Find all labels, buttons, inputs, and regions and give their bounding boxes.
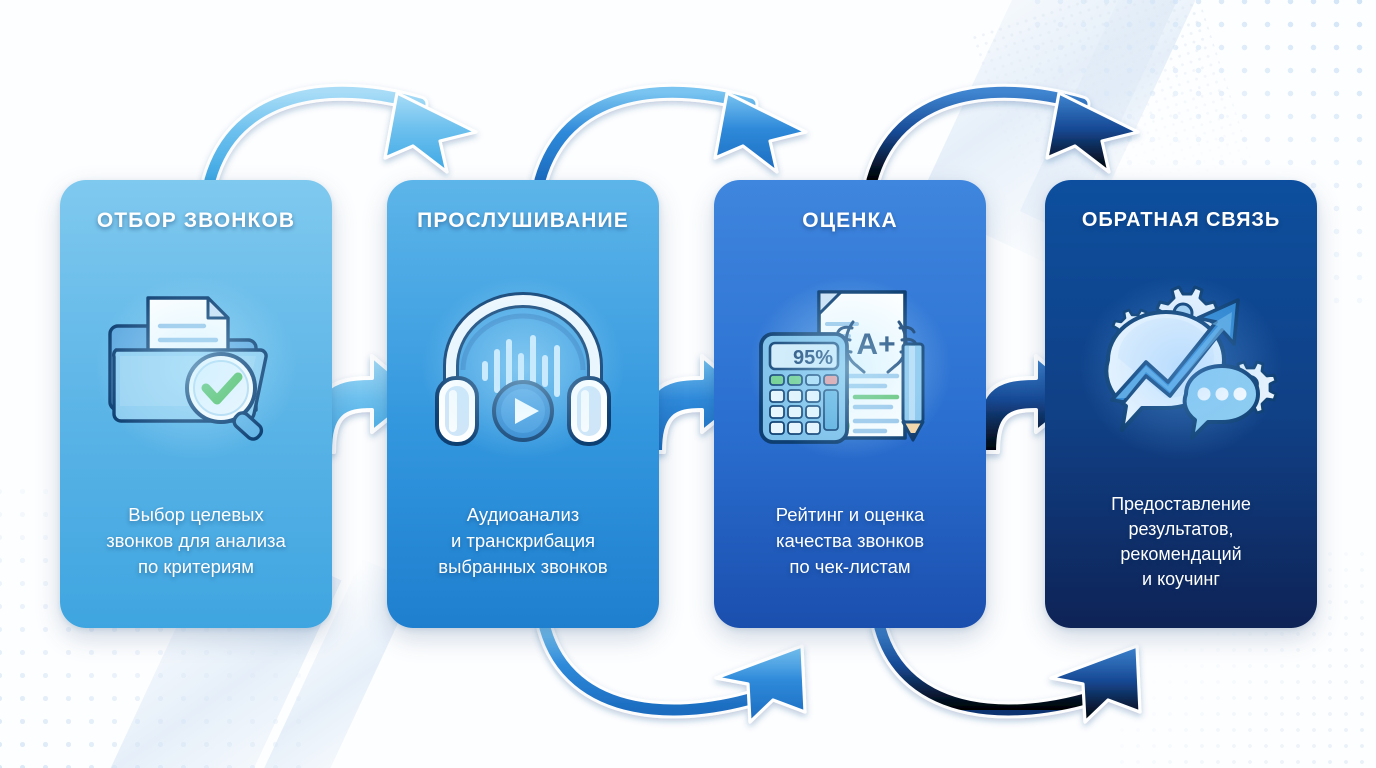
desc-line: рекомендаций [1059,542,1303,567]
desc-line: Предоставление [1059,492,1303,517]
step-card-2[interactable]: ПРОСЛУШИВАНИЕ [387,180,659,628]
step-card-4[interactable]: ОБРАТНАЯ СВЯЗЬ [1045,180,1317,628]
step-2-title: ПРОСЛУШИВАНИЕ [387,209,659,233]
bottom-arc-2 [880,628,1140,722]
headphones-waveform-play-icon [423,278,623,458]
desc-line: по критериям [74,554,318,580]
grade-label: A+ [856,328,895,361]
desc-line: звонков для анализа [74,528,318,554]
step-3-description: Рейтинг и оценка качества звонков по чек… [728,502,972,580]
desc-line: Выбор целевых [74,502,318,528]
calculator-report-grade-icon: A+ [745,278,955,458]
step-2-description: Аудиоанализ и транскрибация выбранных зв… [401,502,645,580]
step-3-title: ОЦЕНКА [714,209,986,233]
step-1-description: Выбор целевых звонков для анализа по кри… [74,502,318,580]
top-arc-2 [540,92,806,180]
desc-line: выбранных звонков [401,554,645,580]
step-card-1[interactable]: ОТБОР ЗВОНКОВ [60,180,332,628]
desc-line: и коучинг [1059,567,1303,592]
step-1-title: ОТБОР ЗВОНКОВ [60,209,332,233]
step-4-title: ОБРАТНАЯ СВЯЗЬ [1045,209,1317,232]
step-card-3[interactable]: ОЦЕНКА [714,180,986,628]
folder-document-magnifier-check-icon [96,278,296,458]
step-1-icon [60,268,332,468]
speech-bubble-growth-arrow-gears-icon [1076,278,1286,458]
step-4-description: Предоставление результатов, рекомендаций… [1059,492,1303,592]
desc-line: по чек-листам [728,554,972,580]
desc-line: качества звонков [728,528,972,554]
diagram-canvas: ОТБОР ЗВОНКОВ [0,0,1376,768]
desc-line: результатов, [1059,517,1303,542]
step-4-icon [1045,268,1317,468]
top-arc-3 [872,92,1138,180]
bottom-arc-1 [545,628,805,722]
desc-line: Рейтинг и оценка [728,502,972,528]
step-3-icon: A+ [714,268,986,468]
desc-line: и транскрибация [401,528,645,554]
desc-line: Аудиоанализ [401,502,645,528]
step-2-icon [387,268,659,468]
top-arc-1 [210,92,476,180]
calculator-display-label: 95% [793,347,833,369]
